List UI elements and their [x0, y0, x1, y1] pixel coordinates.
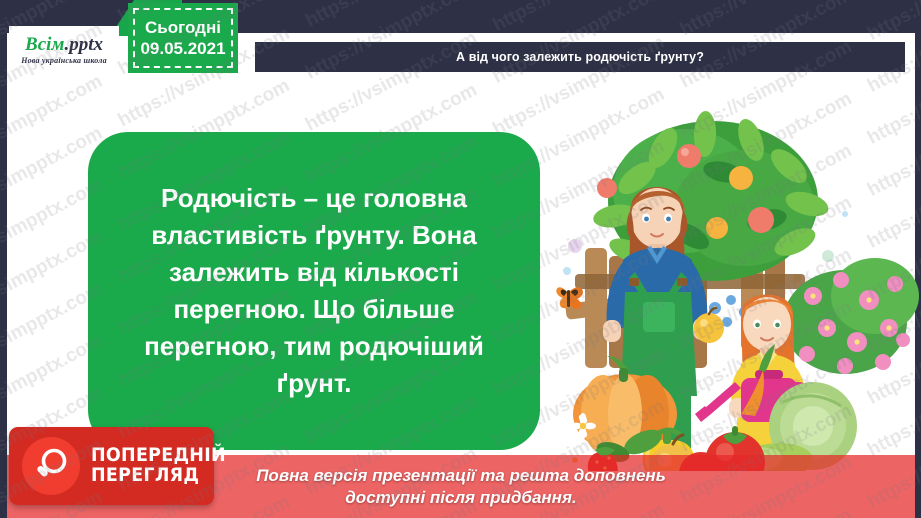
content-panel: Родючість – це головна властивість ґрунт… — [88, 132, 540, 450]
preview-badge-text: ПОПЕРЕДНІЙ ПЕРЕГЛЯД — [91, 446, 238, 486]
logo-wordmark-suffix: .pptx — [64, 34, 103, 55]
slide-title-text: А від чого залежить родючість ґрунту? — [456, 50, 704, 64]
logo-wordmark: Всім.pptx — [25, 35, 103, 54]
preview-badge[interactable]: ПОПЕРЕДНІЙ ПЕРЕГЛЯД — [9, 427, 214, 505]
logo-subtitle: Нова українська школа — [21, 56, 107, 65]
left-frame-rail — [0, 0, 7, 518]
presentation-slide: Всім.pptx Нова українська школа Сьогодні… — [0, 0, 921, 518]
logo-wordmark-prefix: Всім — [25, 34, 64, 55]
date-chip-value: 09.05.2021 — [140, 38, 225, 59]
purchase-notice-line-2: доступні після придбання. — [345, 487, 576, 509]
brand-logo: Всім.pptx Нова українська школа — [9, 26, 119, 74]
garden-illustration — [545, 96, 920, 471]
magnifier-icon — [22, 437, 80, 495]
apple-tree — [591, 111, 831, 281]
slide-title-bar: А від чого залежить родючість ґрунту? — [255, 42, 905, 72]
preview-badge-line-2: ПЕРЕГЛЯД — [91, 466, 226, 486]
butterfly-icon — [556, 287, 583, 309]
purchase-notice-line-1: Повна версія презентації та решта доповн… — [256, 465, 666, 487]
date-chip-label: Сьогодні — [145, 17, 221, 38]
preview-badge-line-1: ПОПЕРЕДНІЙ — [91, 446, 226, 466]
date-chip: Сьогодні 09.05.2021 — [128, 3, 238, 73]
content-panel-text: Родючість – це головна властивість ґрунт… — [114, 180, 514, 401]
